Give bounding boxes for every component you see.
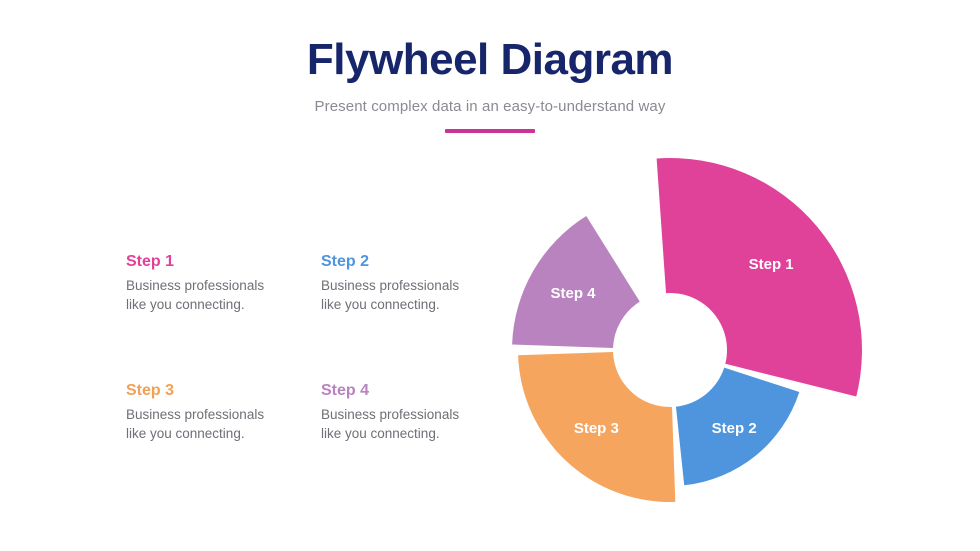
- page-title: Flywheel Diagram: [0, 36, 980, 84]
- donut-slice-step-1[interactable]: [657, 158, 862, 396]
- donut-label-step-1: Step 1: [749, 256, 794, 273]
- donut-label-step-4: Step 4: [550, 285, 596, 302]
- legend-body-step-1: Business professionals like you connecti…: [126, 276, 286, 314]
- slide-canvas: Flywheel Diagram Present complex data in…: [0, 0, 980, 551]
- legend-title-step-1: Step 1: [126, 252, 321, 271]
- legend-body-step-4: Business professionals like you connecti…: [321, 405, 481, 443]
- donut-slices: [512, 158, 862, 502]
- donut-label-step-2: Step 2: [712, 420, 757, 437]
- donut-label-step-3: Step 3: [574, 420, 619, 437]
- title-accent-bar: [445, 129, 535, 133]
- slide-header: Flywheel Diagram Present complex data in…: [0, 36, 980, 115]
- donut-svg: Step 1Step 2Step 3Step 4: [470, 150, 890, 550]
- page-subtitle: Present complex data in an easy-to-under…: [0, 98, 980, 115]
- flywheel-donut-chart: Step 1Step 2Step 3Step 4: [470, 150, 890, 550]
- legend-title-step-3: Step 3: [126, 381, 321, 400]
- legend-item-step-1: Step 1 Business professionals like you c…: [126, 252, 321, 315]
- legend-grid: Step 1 Business professionals like you c…: [126, 252, 496, 443]
- donut-slice-step-4[interactable]: [512, 216, 640, 348]
- legend-body-step-3: Business professionals like you connecti…: [126, 405, 286, 443]
- legend-item-step-3: Step 3 Business professionals like you c…: [126, 381, 321, 444]
- legend-body-step-2: Business professionals like you connecti…: [321, 276, 481, 314]
